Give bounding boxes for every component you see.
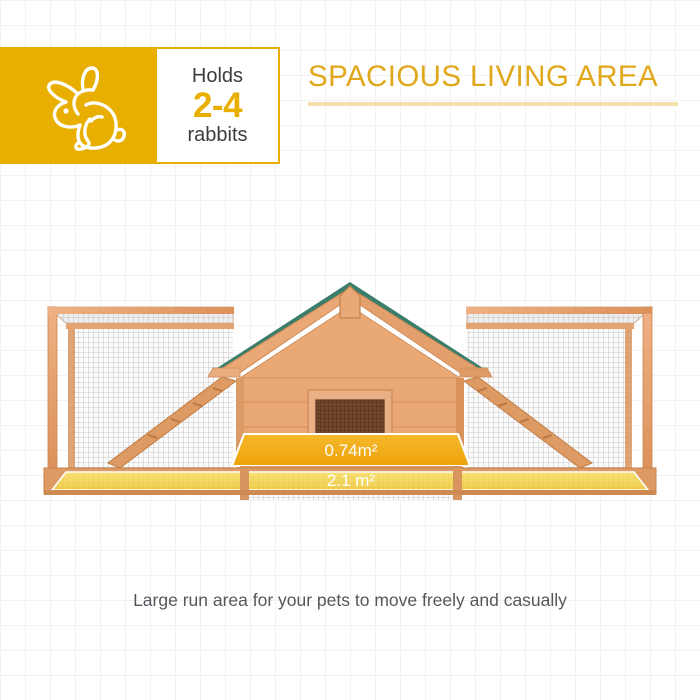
capacity-prefix-label: Holds [192,66,243,86]
title-underline [308,102,678,106]
capacity-unit-label: rabbits [187,125,247,145]
caption-text: Large run area for your pets to move fre… [0,589,700,612]
headline-group: SPACIOUS LIVING AREA [308,61,700,106]
capacity-count: 2-4 [193,88,242,125]
upper-area-label: 0.74m² [325,441,378,460]
lower-area-label: 2.1 m² [327,471,376,490]
header-banner: Holds 2-4 rabbits SPACIOUS LIVING AREA [0,47,700,164]
right-run-enclosure [464,307,652,475]
page-title: SPACIOUS LIVING AREA [308,61,700,93]
header-icon-block [0,47,155,164]
rabbit-icon [33,57,133,157]
product-illustration: 0.74m² 2.1 m² [8,282,692,500]
capacity-badge: Holds 2-4 rabbits [155,47,280,164]
infographic-page: Holds 2-4 rabbits SPACIOUS LIVING AREA [0,0,700,700]
upper-platform-area: 0.74m² [232,434,470,466]
left-run-enclosure [48,307,236,475]
